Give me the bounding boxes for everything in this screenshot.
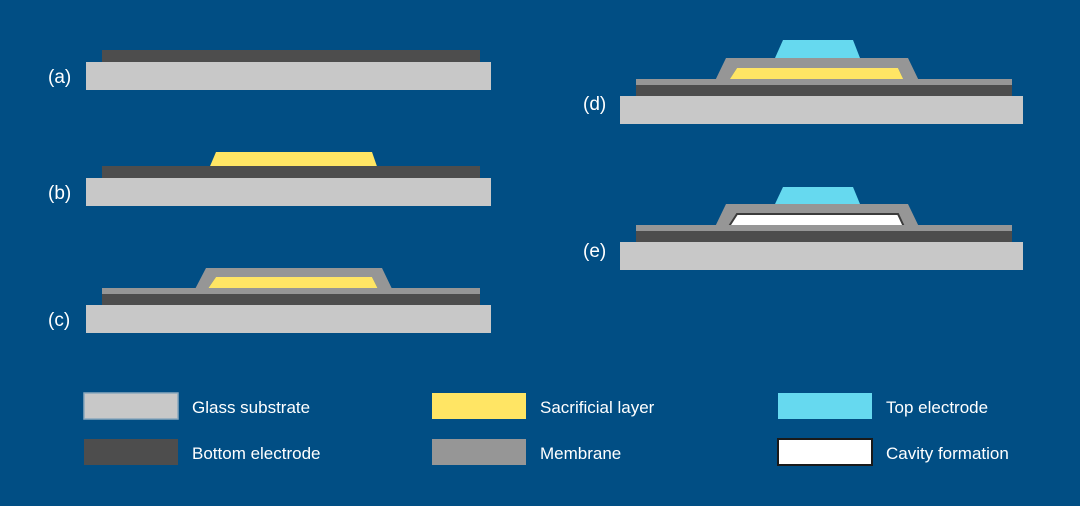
panel-e-label: (e) bbox=[583, 241, 606, 262]
panel-c-label: (c) bbox=[48, 310, 70, 331]
legend-label-glass-substrate: Glass substrate bbox=[192, 398, 310, 417]
legend-swatch-glass-substrate bbox=[84, 393, 178, 419]
panel-d-bottom-electrode bbox=[636, 85, 1012, 96]
panel-e-membrane-field bbox=[636, 225, 1012, 231]
panel-e-bottom-electrode bbox=[636, 231, 1012, 242]
panel-c-glass-substrate bbox=[86, 305, 491, 333]
legend-label-top-electrode: Top electrode bbox=[886, 398, 988, 417]
panel-e-glass-substrate bbox=[620, 242, 1023, 270]
panel-e-top-electrode bbox=[775, 187, 860, 204]
panel-b-label: (b) bbox=[48, 183, 71, 204]
panel-a: (a) bbox=[48, 50, 491, 90]
panel-c-membrane-field bbox=[102, 288, 480, 294]
panel-d-top-electrode bbox=[775, 40, 860, 58]
panel-b-glass-substrate bbox=[86, 178, 491, 206]
legend-swatch-top-electrode bbox=[778, 393, 872, 419]
legend-label-membrane: Membrane bbox=[540, 444, 621, 463]
legend-swatch-bottom-electrode bbox=[84, 439, 178, 465]
process-flow-diagram: (a) (b) (c) (d) (e) bbox=[0, 0, 1080, 506]
panel-a-label: (a) bbox=[48, 67, 71, 88]
panel-a-bottom-electrode bbox=[102, 50, 480, 62]
legend-label-bottom-electrode: Bottom electrode bbox=[192, 444, 321, 463]
legend-label-sacrificial-layer: Sacrificial layer bbox=[540, 398, 655, 417]
legend-label-cavity-formation: Cavity formation bbox=[886, 444, 1009, 463]
panel-d-membrane-field bbox=[636, 79, 1012, 85]
panel-d-glass-substrate bbox=[620, 96, 1023, 124]
panel-b-bottom-electrode bbox=[102, 166, 480, 178]
legend-swatch-sacrificial-layer bbox=[432, 393, 526, 419]
panel-a-glass-substrate bbox=[86, 62, 491, 90]
panel-c-bottom-electrode bbox=[102, 294, 480, 305]
panel-d-label: (d) bbox=[583, 94, 606, 115]
legend-swatch-cavity-formation bbox=[778, 439, 872, 465]
legend-swatch-membrane bbox=[432, 439, 526, 465]
